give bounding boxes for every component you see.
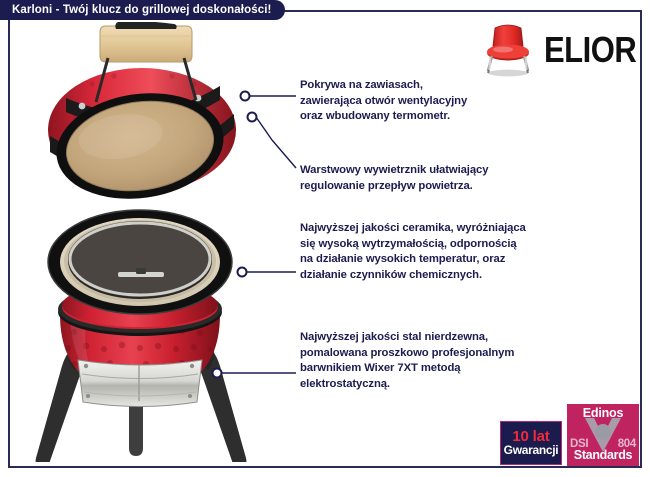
warranty-label: Gwarancji [504,444,559,457]
infographic-canvas: Pokrywa na zawiasach, zawierająca otwór … [0,0,650,477]
feature-line: Najwyższej jakości stal nierdzewna, [300,330,514,346]
feature-line: zawierająca otwór wentylacyjny [300,94,467,110]
grill-lid [48,68,236,209]
feature-line: na działanie wysokich temperatur, oraz [300,252,526,268]
feature-line: barwnikiem Wixer 7XT metodą [300,361,514,377]
feature-line: Warstwowy wywietrznik ułatwiający [300,163,488,179]
feature-text-vent: Warstwowy wywietrznik ułatwiający regulo… [300,163,488,194]
feature-line: działanie czynników chemicznych. [300,268,526,284]
edinos-standards-label: Standards [567,448,639,462]
feature-line: Pokrywa na zawiasach, [300,78,467,94]
feature-line: regulowanie przepływ powietrza. [300,179,488,195]
product-image-kamado-grill [22,22,272,462]
red-chair-icon [480,20,536,78]
feature-line: oraz wbudowany termometr. [300,109,467,125]
feature-line: pomalowana proszkowo profesjonalnym [300,346,514,362]
feature-line: elektrostatyczną. [300,377,514,393]
stainless-steel-vent-door [78,360,202,407]
feature-text-ceramic: Najwyższej jakości ceramika, wyróżniając… [300,221,526,283]
feature-text-steel: Najwyższej jakości stal nierdzewna, poma… [300,330,514,392]
brand-logo: ELIOR [480,18,628,80]
warranty-badge: 10 lat Gwarancji [500,421,562,465]
brand-name: ELIOR [544,31,636,68]
feature-line: się wysoką wytrzymałością, odpornością [300,237,526,253]
feature-line: Najwyższej jakości ceramika, wyróżniając… [300,221,526,237]
header-banner: Karloni - Twój klucz do grillowej doskon… [0,0,285,20]
edinos-certification-badge: Edinos DSI 804 Standards [567,404,639,466]
page-title: Karloni - Twój klucz do grillowej doskon… [12,4,271,16]
feature-text-lid: Pokrywa na zawiasach, zawierająca otwór … [300,78,467,125]
warranty-years: 10 lat [512,429,549,445]
